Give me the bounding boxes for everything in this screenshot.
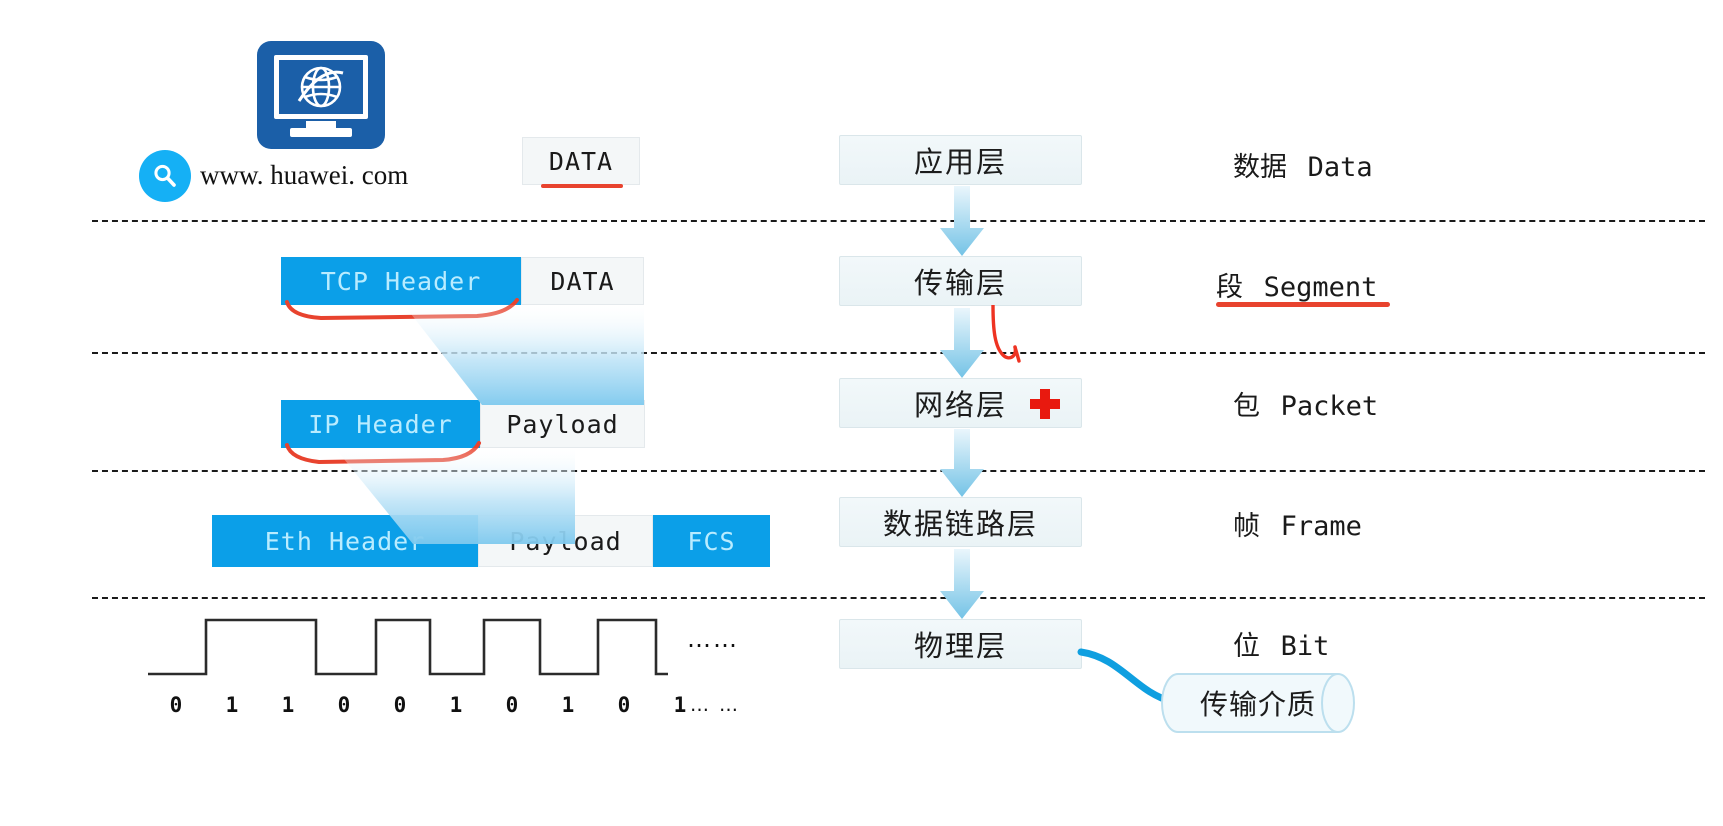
flow-arrow-datalink-to-physical: [936, 549, 988, 621]
pdu-segment: DATA: [522, 137, 640, 185]
bit-value: 0: [148, 693, 204, 717]
pdu-segment: FCS: [653, 515, 770, 567]
layer-box-application[interactable]: 应用层: [839, 135, 1082, 185]
pdu-name-cn: 段: [1216, 272, 1243, 303]
layer-box-transport[interactable]: 传输层: [839, 256, 1082, 306]
flow-arrow-app-to-transport: [936, 186, 988, 258]
red-underline-segment: [1216, 302, 1390, 307]
pdu-name-cn: 位: [1233, 631, 1260, 662]
bit-value: 1: [260, 693, 316, 717]
bit-sequence-ellipsis: … …: [690, 694, 740, 716]
magnifier-glyph: [150, 161, 180, 191]
pdu-name-data: 数据 Data: [1233, 145, 1373, 184]
layer-box-physical[interactable]: 物理层: [839, 619, 1082, 669]
medium-label: 传输介质: [1160, 672, 1356, 734]
encapsulation-funnel-network-to-datalink: [335, 448, 580, 544]
layer-box-datalink[interactable]: 数据链路层: [839, 497, 1082, 547]
layer-label: 数据链路层: [883, 501, 1038, 543]
bit-value: 0: [484, 693, 540, 717]
pdu-name-en: Bit: [1281, 631, 1330, 662]
layer-label: 物理层: [914, 623, 1007, 665]
search-icon[interactable]: [139, 150, 191, 202]
computer-globe-icon: [257, 41, 385, 149]
pdu-name-en: Data: [1308, 152, 1373, 183]
pdu-name-packet: 包 Packet: [1233, 384, 1378, 423]
pdu-name-en: Frame: [1281, 511, 1362, 542]
pdu-name-cn: 帧: [1233, 511, 1260, 542]
bit-value: 0: [596, 693, 652, 717]
bit-value: 1: [428, 693, 484, 717]
pdu-segment: DATA: [521, 257, 644, 305]
bit-sequence: 0 1 1 0 0 1 0 1 0 1: [148, 693, 708, 717]
flow-arrow-network-to-datalink: [936, 429, 988, 499]
binary-waveform: [148, 612, 708, 684]
pdu-name-frame: 帧 Frame: [1233, 504, 1362, 543]
pdu-segment: Payload: [480, 400, 645, 448]
bit-value: 1: [204, 693, 260, 717]
pdu-name-en: Packet: [1281, 391, 1379, 422]
red-cross-icon: [1027, 386, 1063, 422]
layer-separator-1: [92, 220, 1705, 222]
flow-arrow-transport-to-network: [936, 308, 988, 380]
pdu-name-segment: 段 Segment: [1216, 265, 1377, 304]
red-underline-data: [541, 184, 623, 188]
bit-value: 0: [372, 693, 428, 717]
pdu-name-bit: 位 Bit: [1233, 624, 1329, 663]
layer-label: 网络层: [914, 382, 1007, 424]
bit-value: 1: [540, 693, 596, 717]
pdu-name-en: Segment: [1264, 272, 1378, 303]
bit-value: 0: [316, 693, 372, 717]
host-url-label: www. huawei. com: [200, 160, 408, 191]
pdu-name-cn: 数据: [1233, 152, 1287, 183]
layer-separator-2: [92, 352, 1705, 354]
red-hook-annotation: [985, 305, 1033, 373]
layer-label: 传输层: [914, 260, 1007, 302]
waveform-ellipsis: ……: [687, 625, 739, 653]
pdu-application: DATA: [522, 137, 640, 185]
layer-separator-4: [92, 597, 1705, 599]
transmission-medium-cylinder: 传输介质: [1160, 672, 1356, 734]
encapsulation-funnel-transport-to-network: [404, 305, 649, 405]
globe-icon: [283, 61, 359, 113]
pdu-name-cn: 包: [1233, 391, 1260, 422]
layer-label: 应用层: [914, 139, 1007, 181]
monitor-stand-base: [290, 128, 352, 137]
